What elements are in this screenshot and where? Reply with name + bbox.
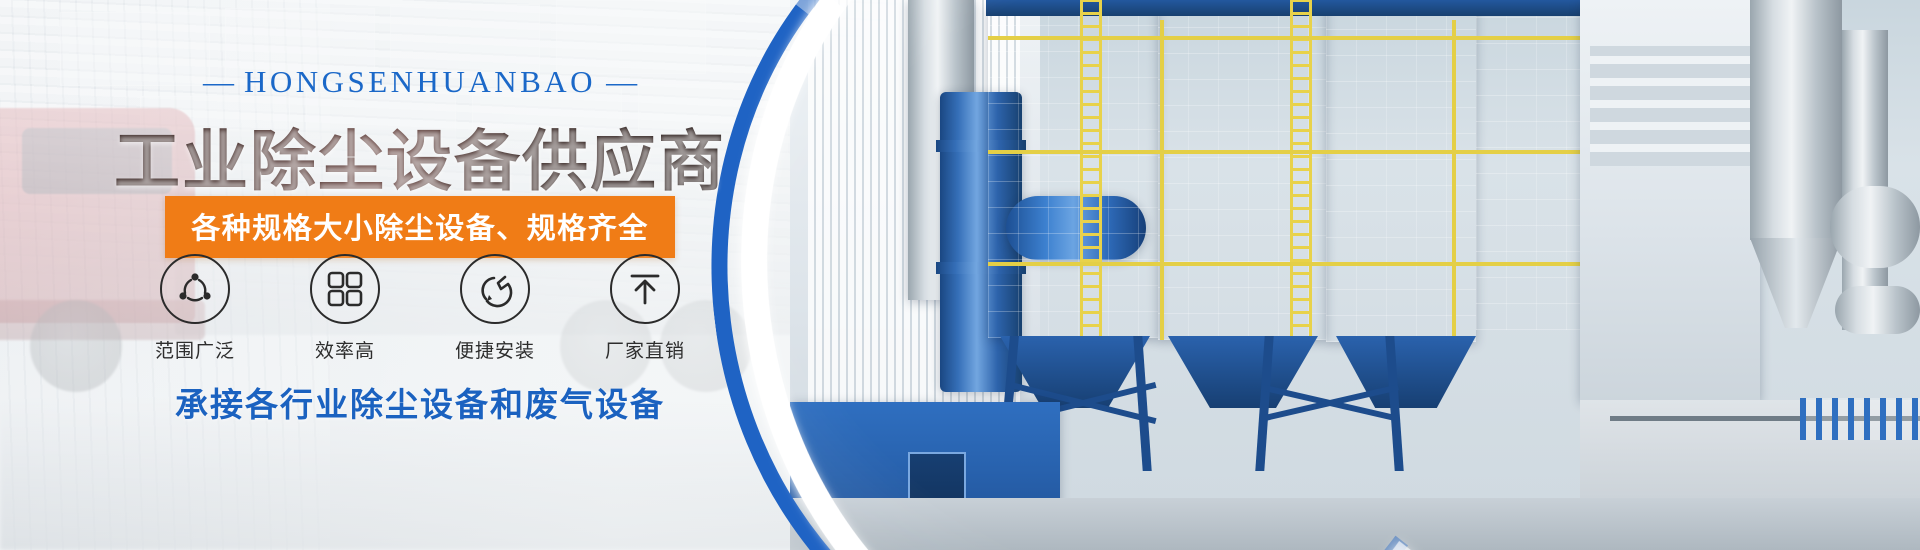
dust-collector-plant-photo <box>790 0 1920 550</box>
hero-banner: —HONGSENHUANBAO— 工业除尘设备供应商 各种规格大小除尘设备、规格… <box>0 0 1920 550</box>
eyebrow-dash-right: — <box>606 64 637 99</box>
baghouse-roof-cap <box>986 0 1590 16</box>
feature-item-factory-direct: 厂家直销 <box>589 254 701 363</box>
metal-cyclone-silo <box>1750 0 1842 240</box>
yellow-handrail <box>988 150 1588 154</box>
feature-item-easy-install: 便捷安装 <box>439 254 551 363</box>
wrench-rotate-icon <box>460 254 530 324</box>
grid-squares-icon <box>310 254 380 324</box>
feature-item-wide-range: 范围广泛 <box>139 254 251 363</box>
feature-label: 厂家直销 <box>589 336 701 363</box>
eyebrow-text: HONGSENHUANBAO <box>244 64 596 99</box>
right-building-window-band <box>1590 46 1750 166</box>
yellow-vertical-post <box>1452 20 1456 340</box>
subtitle-bar-wrapper: 各种规格大小除尘设备、规格齐全 <box>0 196 840 258</box>
yellow-ladder <box>1290 0 1312 340</box>
foreground-pavement <box>790 498 1920 550</box>
horizontal-duct <box>1835 286 1920 334</box>
banner-tagline: 承接各行业除尘设备和废气设备 <box>0 378 840 426</box>
yellow-ladder <box>1080 0 1102 340</box>
metal-duct-riser <box>1842 30 1888 330</box>
horizontal-duct <box>1830 186 1920 268</box>
feature-item-high-efficiency: 效率高 <box>289 254 401 363</box>
feature-list: 范围广泛 效率高 <box>0 254 840 363</box>
yellow-vertical-post <box>1160 20 1164 340</box>
yellow-handrail <box>988 262 1588 266</box>
feature-label: 效率高 <box>289 336 401 363</box>
brand-eyebrow: —HONGSENHUANBAO— <box>0 64 840 100</box>
feature-label: 范围广泛 <box>139 336 251 363</box>
page-title: 工业除尘设备供应商 <box>0 108 840 204</box>
eyebrow-dash-left: — <box>203 64 234 99</box>
baghouse-module <box>988 8 1158 338</box>
feature-label: 便捷安装 <box>439 336 551 363</box>
arrow-up-bar-icon <box>610 254 680 324</box>
network-nodes-icon <box>160 254 230 324</box>
banner-content: —HONGSENHUANBAO— 工业除尘设备供应商 各种规格大小除尘设备、规格… <box>0 0 840 550</box>
subtitle-orange-bar: 各种规格大小除尘设备、规格齐全 <box>165 196 675 258</box>
yellow-handrail <box>988 36 1588 40</box>
blue-fence <box>1800 398 1920 440</box>
baghouse-module <box>1476 0 1586 330</box>
